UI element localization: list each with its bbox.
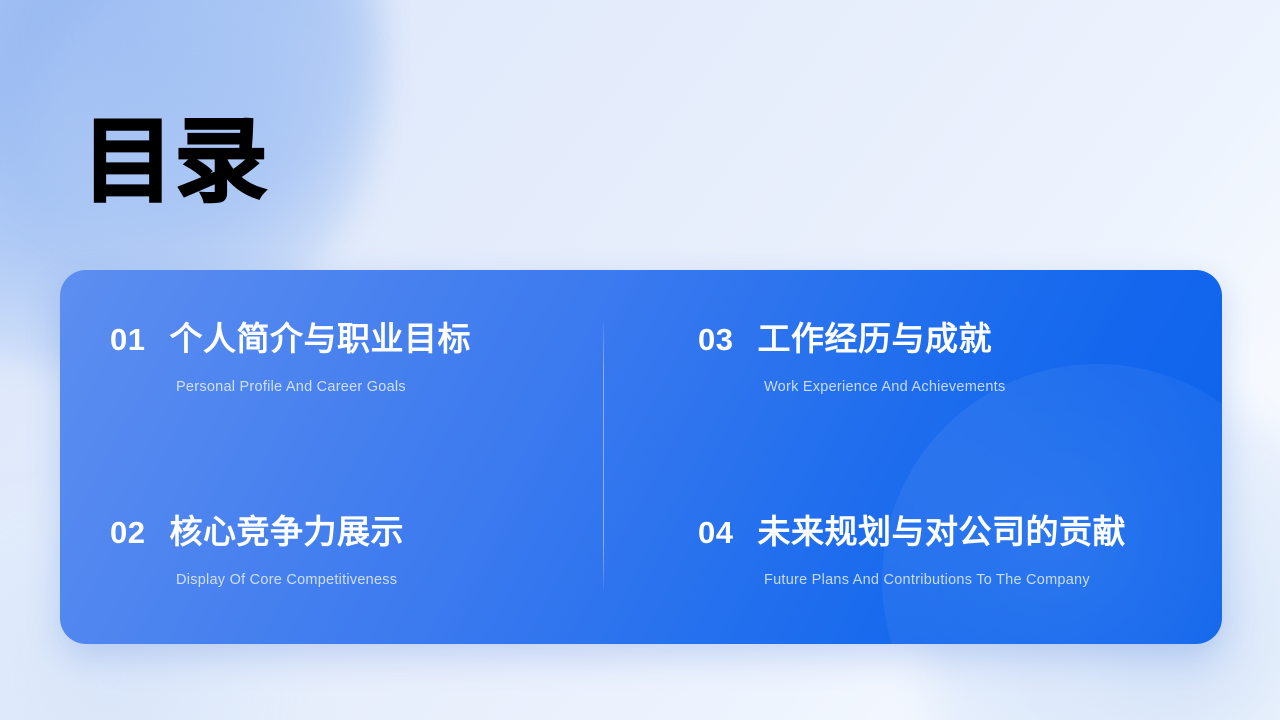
toc-item-02-number: 02 <box>110 517 145 548</box>
toc-item-03[interactable]: 03 工作经历与成就 Work Experience And Achieveme… <box>698 322 1005 395</box>
toc-item-01-heading: 个人简介与职业目标 <box>169 322 471 355</box>
toc-item-01-subtitle: Personal Profile And Career Goals <box>176 379 471 395</box>
toc-item-02-row: 02 核心竞争力展示 <box>110 515 404 548</box>
toc-item-02[interactable]: 02 核心竞争力展示 Display Of Core Competitivene… <box>110 515 404 588</box>
toc-item-03-subtitle: Work Experience And Achievements <box>764 379 1005 395</box>
toc-item-03-row: 03 工作经历与成就 <box>698 322 1005 355</box>
toc-item-04-row: 04 未来规划与对公司的贡献 <box>698 515 1126 548</box>
toc-item-04-subtitle: Future Plans And Contributions To The Co… <box>764 572 1126 588</box>
toc-item-02-heading: 核心竞争力展示 <box>169 515 404 548</box>
toc-item-03-number: 03 <box>698 324 733 355</box>
toc-item-02-subtitle: Display Of Core Competitiveness <box>176 572 404 588</box>
column-divider <box>603 322 604 590</box>
toc-item-04-number: 04 <box>698 517 733 548</box>
toc-item-01-number: 01 <box>110 324 145 355</box>
toc-item-01-row: 01 个人简介与职业目标 <box>110 322 471 355</box>
toc-item-04[interactable]: 04 未来规划与对公司的贡献 Future Plans And Contribu… <box>698 515 1126 588</box>
toc-item-03-heading: 工作经历与成就 <box>757 322 992 355</box>
toc-item-04-heading: 未来规划与对公司的贡献 <box>757 515 1126 548</box>
presentation-slide: 目录 01 个人简介与职业目标 Personal Profile And Car… <box>0 0 1280 720</box>
toc-item-01[interactable]: 01 个人简介与职业目标 Personal Profile And Career… <box>110 322 471 395</box>
card-highlight-glow <box>882 364 1222 644</box>
page-title: 目录 <box>82 114 268 211</box>
